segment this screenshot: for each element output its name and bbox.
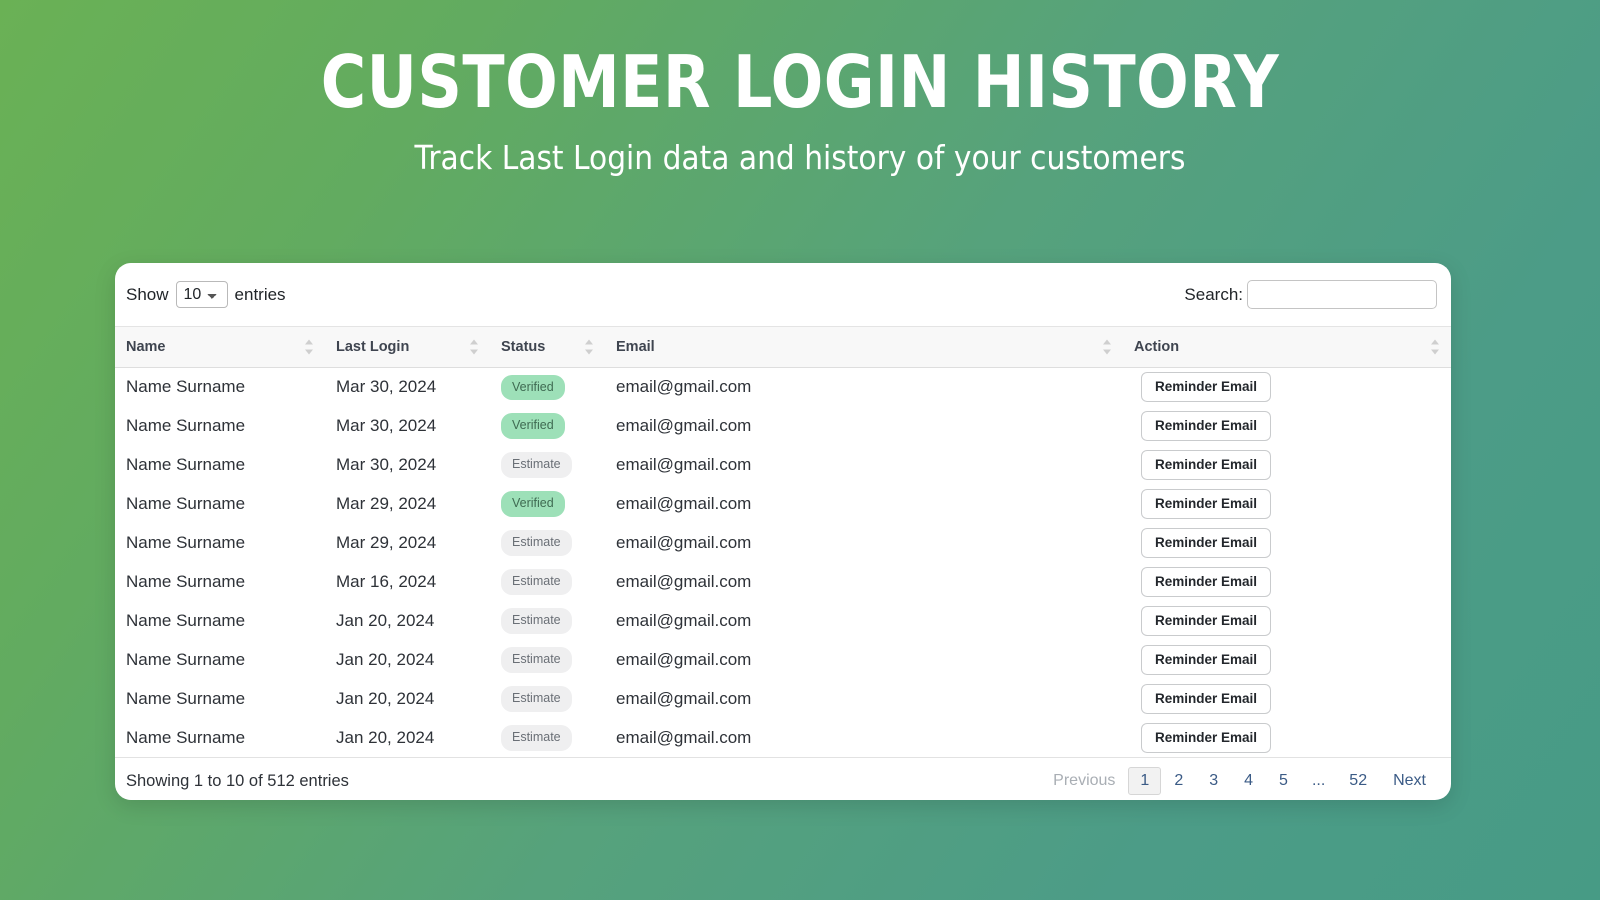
reminder-email-button[interactable]: Reminder Email [1141, 645, 1271, 675]
pagination-page-3[interactable]: 3 [1196, 767, 1231, 796]
cell-last-login: Jan 20, 2024 [325, 602, 490, 641]
table-row: Name SurnameMar 29, 2024Estimateemail@gm… [115, 524, 1451, 563]
cell-last-login: Jan 20, 2024 [325, 719, 490, 758]
cell-name: Name Surname [115, 485, 325, 524]
cell-email: email@gmail.com [605, 563, 1123, 602]
search-label: Search: [1184, 285, 1243, 305]
cell-status: Estimate [490, 602, 605, 641]
cell-action: Reminder Email [1123, 602, 1451, 641]
pagination-previous[interactable]: Previous [1040, 767, 1128, 796]
column-header-label: Action [1134, 339, 1179, 355]
page-length-select[interactable]: 102550100 [176, 281, 228, 308]
column-header-status[interactable]: Status [490, 327, 605, 368]
table-head: NameLast LoginStatusEmailAction [115, 327, 1451, 368]
cell-action: Reminder Email [1123, 368, 1451, 407]
sort-arrows-icon[interactable] [470, 339, 479, 356]
table-row: Name SurnameJan 20, 2024Estimateemail@gm… [115, 602, 1451, 641]
table-footer: Showing 1 to 10 of 512 entries Previous1… [115, 758, 1451, 800]
pagination-page-2[interactable]: 2 [1161, 767, 1196, 796]
cell-last-login: Mar 29, 2024 [325, 485, 490, 524]
cell-name: Name Surname [115, 680, 325, 719]
table-row: Name SurnameMar 30, 2024Verifiedemail@gm… [115, 407, 1451, 446]
column-header-label: Last Login [336, 339, 409, 355]
hero-banner: CUSTOMER LOGIN HISTORY Track Last Login … [0, 0, 1600, 177]
status-badge: Verified [501, 491, 565, 517]
search-input[interactable] [1247, 280, 1437, 309]
cell-name: Name Surname [115, 641, 325, 680]
cell-status: Estimate [490, 680, 605, 719]
cell-email: email@gmail.com [605, 407, 1123, 446]
table-body: Name SurnameMar 30, 2024Verifiedemail@gm… [115, 368, 1451, 758]
entries-label: entries [235, 285, 286, 305]
pagination-page-1[interactable]: 1 [1128, 767, 1161, 796]
cell-status: Verified [490, 485, 605, 524]
status-badge: Estimate [501, 725, 572, 751]
cell-last-login: Mar 30, 2024 [325, 446, 490, 485]
sort-arrows-icon[interactable] [585, 339, 594, 356]
sort-arrows-icon[interactable] [1431, 339, 1440, 356]
cell-email: email@gmail.com [605, 680, 1123, 719]
reminder-email-button[interactable]: Reminder Email [1141, 567, 1271, 597]
cell-email: email@gmail.com [605, 368, 1123, 407]
cell-status: Estimate [490, 563, 605, 602]
cell-last-login: Mar 16, 2024 [325, 563, 490, 602]
cell-action: Reminder Email [1123, 485, 1451, 524]
cell-action: Reminder Email [1123, 719, 1451, 758]
table-row: Name SurnameJan 20, 2024Estimateemail@gm… [115, 719, 1451, 758]
cell-email: email@gmail.com [605, 602, 1123, 641]
cell-email: email@gmail.com [605, 485, 1123, 524]
pagination-ellipsis: ... [1301, 767, 1336, 796]
cell-status: Estimate [490, 446, 605, 485]
column-header-action[interactable]: Action [1123, 327, 1451, 368]
sort-arrows-icon[interactable] [1103, 339, 1112, 356]
cell-name: Name Surname [115, 719, 325, 758]
cell-email: email@gmail.com [605, 719, 1123, 758]
column-header-name[interactable]: Name [115, 327, 325, 368]
reminder-email-button[interactable]: Reminder Email [1141, 684, 1271, 714]
cell-last-login: Jan 20, 2024 [325, 680, 490, 719]
table-row: Name SurnameMar 16, 2024Estimateemail@gm… [115, 563, 1451, 602]
pagination-next[interactable]: Next [1380, 767, 1439, 796]
cell-name: Name Surname [115, 563, 325, 602]
reminder-email-button[interactable]: Reminder Email [1141, 528, 1271, 558]
column-header-label: Status [501, 339, 545, 355]
status-badge: Estimate [501, 452, 572, 478]
cell-last-login: Mar 30, 2024 [325, 368, 490, 407]
column-header-email[interactable]: Email [605, 327, 1123, 368]
cell-action: Reminder Email [1123, 446, 1451, 485]
status-badge: Verified [501, 413, 565, 439]
pagination-page-5[interactable]: 5 [1266, 767, 1301, 796]
page-subtitle: Track Last Login data and history of you… [80, 138, 1520, 177]
cell-status: Verified [490, 368, 605, 407]
column-header-label: Name [126, 339, 166, 355]
cell-name: Name Surname [115, 368, 325, 407]
cell-name: Name Surname [115, 602, 325, 641]
cell-email: email@gmail.com [605, 641, 1123, 680]
reminder-email-button[interactable]: Reminder Email [1141, 723, 1271, 753]
table-row: Name SurnameJan 20, 2024Estimateemail@gm… [115, 680, 1451, 719]
pagination-page-4[interactable]: 4 [1231, 767, 1266, 796]
table-row: Name SurnameMar 29, 2024Verifiedemail@gm… [115, 485, 1451, 524]
column-header-label: Email [616, 339, 655, 355]
search-control: Search: [1184, 280, 1440, 309]
page-length-control: Show 102550100 entries [126, 281, 286, 308]
show-label: Show [126, 285, 169, 305]
cell-email: email@gmail.com [605, 524, 1123, 563]
table-row: Name SurnameMar 30, 2024Verifiedemail@gm… [115, 368, 1451, 407]
cell-name: Name Surname [115, 524, 325, 563]
status-badge: Estimate [501, 686, 572, 712]
reminder-email-button[interactable]: Reminder Email [1141, 450, 1271, 480]
cell-last-login: Mar 30, 2024 [325, 407, 490, 446]
cell-last-login: Jan 20, 2024 [325, 641, 490, 680]
page-title: CUSTOMER LOGIN HISTORY [112, 46, 1488, 118]
column-header-last-login[interactable]: Last Login [325, 327, 490, 368]
status-badge: Estimate [501, 647, 572, 673]
cell-name: Name Surname [115, 446, 325, 485]
reminder-email-button[interactable]: Reminder Email [1141, 372, 1271, 402]
cell-status: Verified [490, 407, 605, 446]
login-history-table: NameLast LoginStatusEmailAction Name Sur… [115, 326, 1451, 758]
pagination: Previous12345...52Next [1040, 767, 1439, 796]
cell-action: Reminder Email [1123, 563, 1451, 602]
cell-status: Estimate [490, 641, 605, 680]
cell-name: Name Surname [115, 407, 325, 446]
pagination-page-52[interactable]: 52 [1336, 767, 1380, 796]
table-row: Name SurnameJan 20, 2024Estimateemail@gm… [115, 641, 1451, 680]
cell-email: email@gmail.com [605, 446, 1123, 485]
reminder-email-button[interactable]: Reminder Email [1141, 606, 1271, 636]
datatable-card: Show 102550100 entries Search: NameLast … [115, 263, 1451, 800]
table-controls: Show 102550100 entries Search: [115, 263, 1451, 326]
table-header-row: NameLast LoginStatusEmailAction [115, 327, 1451, 368]
cell-last-login: Mar 29, 2024 [325, 524, 490, 563]
status-badge: Verified [501, 375, 565, 401]
reminder-email-button[interactable]: Reminder Email [1141, 411, 1271, 441]
cell-status: Estimate [490, 524, 605, 563]
status-badge: Estimate [501, 530, 572, 556]
cell-action: Reminder Email [1123, 524, 1451, 563]
status-badge: Estimate [501, 569, 572, 595]
entries-info: Showing 1 to 10 of 512 entries [126, 772, 349, 791]
cell-action: Reminder Email [1123, 641, 1451, 680]
sort-arrows-icon[interactable] [305, 339, 314, 356]
status-badge: Estimate [501, 608, 572, 634]
table-wrapper: NameLast LoginStatusEmailAction Name Sur… [115, 326, 1451, 758]
reminder-email-button[interactable]: Reminder Email [1141, 489, 1271, 519]
cell-status: Estimate [490, 719, 605, 758]
table-row: Name SurnameMar 30, 2024Estimateemail@gm… [115, 446, 1451, 485]
cell-action: Reminder Email [1123, 407, 1451, 446]
cell-action: Reminder Email [1123, 680, 1451, 719]
